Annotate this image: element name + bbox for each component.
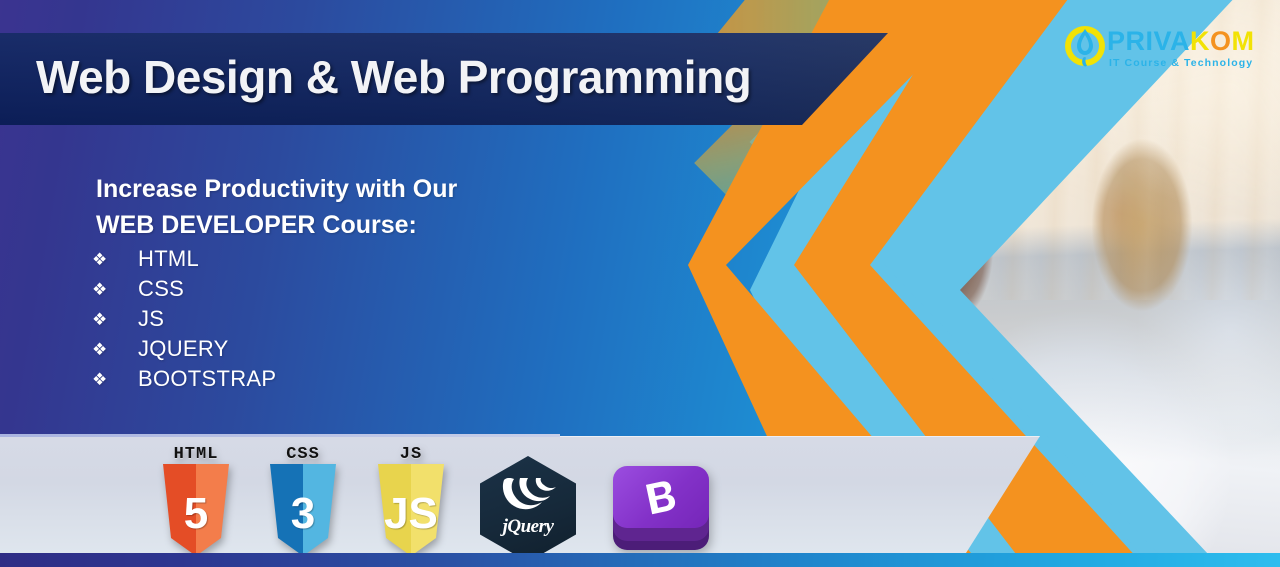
jquery-hexagon-icon: jQuery: [480, 456, 576, 562]
bottom-gradient-strip: [0, 553, 1280, 567]
html5-logo: HTML 5: [163, 464, 229, 556]
diamond-bullet-icon: ❖: [92, 251, 138, 268]
list-item: ❖ JQUERY: [92, 334, 276, 364]
headline-line-2: WEB DEVELOPER Course:: [96, 208, 457, 244]
course-item-label: HTML: [138, 246, 199, 272]
javascript-logo: JS JS: [378, 464, 444, 556]
js-number: JS: [378, 492, 444, 536]
headline-line-1: Increase Productivity with Our: [96, 172, 457, 208]
html5-number: 5: [163, 492, 229, 536]
bootstrap-stack-icon: [605, 458, 717, 554]
css3-number: 3: [270, 492, 336, 536]
course-item-label: JS: [138, 306, 164, 332]
jquery-logo: jQuery: [480, 456, 576, 562]
tech-logo-row: HTML 5 CSS 3 JS JS: [0, 440, 1040, 553]
wordmark-o: O: [1210, 26, 1232, 56]
css3-label: CSS: [269, 445, 337, 464]
js-shield-icon: JS JS: [378, 464, 444, 556]
promo-banner: Web Design & Web Programming Increase Pr…: [0, 0, 1280, 567]
list-item: ❖ CSS: [92, 274, 276, 304]
list-item: ❖ JS: [92, 304, 276, 334]
privakom-tagline: IT Course & Technology: [1109, 57, 1253, 69]
page-title: Web Design & Web Programming: [36, 50, 751, 104]
privakom-flame-mark-icon: [1063, 24, 1107, 68]
course-item-label: JQUERY: [138, 336, 229, 362]
band-top-highlight: [0, 434, 560, 437]
course-list: ❖ HTML ❖ CSS ❖ JS ❖ JQUERY ❖ BOOTSTRAP: [92, 244, 276, 394]
wordmark-priva: PRIVA: [1107, 26, 1190, 56]
course-item-label: BOOTSTRAP: [138, 366, 276, 392]
js-label: JS: [377, 445, 445, 464]
diamond-bullet-icon: ❖: [92, 281, 138, 298]
css3-shield-icon: CSS 3: [270, 464, 336, 556]
list-item: ❖ HTML: [92, 244, 276, 274]
privakom-wordmark: PRIVAKOM: [1107, 28, 1255, 55]
jquery-swoosh-icon: [500, 478, 556, 514]
privakom-logo: PRIVAKOM IT Course & Technology: [1063, 24, 1249, 74]
wordmark-k: K: [1190, 26, 1210, 56]
html5-label: HTML: [162, 445, 230, 464]
diamond-bullet-icon: ❖: [92, 371, 138, 388]
diamond-bullet-icon: ❖: [92, 311, 138, 328]
jquery-wordmark: jQuery: [480, 516, 576, 538]
bootstrap-b-glyph-icon: [639, 478, 683, 518]
wordmark-m: M: [1232, 26, 1255, 56]
bootstrap-logo: [605, 458, 717, 554]
headline: Increase Productivity with Our WEB DEVEL…: [96, 172, 457, 243]
course-item-label: CSS: [138, 276, 184, 302]
list-item: ❖ BOOTSTRAP: [92, 364, 276, 394]
html5-shield-icon: HTML 5: [163, 464, 229, 556]
css3-logo: CSS 3: [270, 464, 336, 556]
diamond-bullet-icon: ❖: [92, 341, 138, 358]
